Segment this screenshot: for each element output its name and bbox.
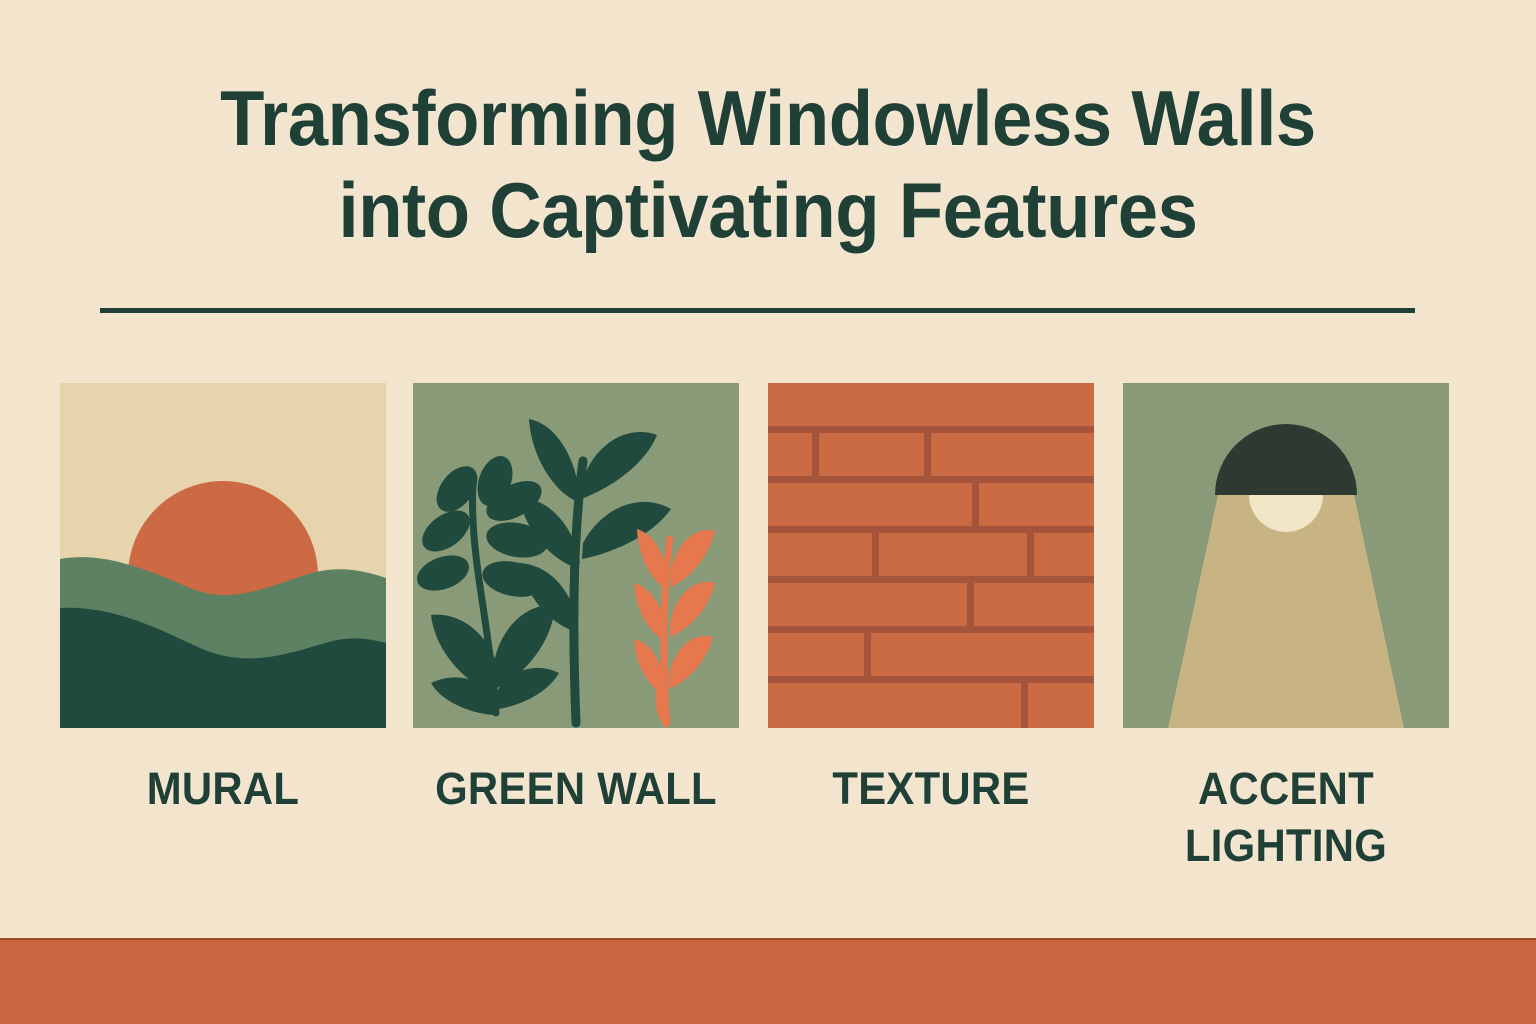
foliage-branches-icon [413,383,739,728]
sunset-hills-icon [60,383,386,728]
bottom-bar-hairline [0,938,1536,940]
panel-accent-lighting[interactable] [1123,383,1449,728]
title-line-1: Transforming Windowless Walls [54,72,1482,164]
poster-stage: Transforming Windowless Walls into Capti… [0,0,1536,1024]
panel-row [60,383,1456,728]
title-line-2: into Captivating Features [54,164,1482,256]
brick-wall-icon [768,383,1094,728]
panel-mural[interactable] [60,383,386,728]
page-title: Transforming Windowless Walls into Capti… [0,72,1536,256]
caption-accent-lighting: ACCENT LIGHTING [1134,760,1437,874]
caption-green-wall: GREEN WALL [424,760,727,817]
bottom-accent-bar [0,938,1536,1024]
title-divider-rule [100,308,1415,313]
panel-green-wall[interactable] [413,383,739,728]
caption-texture: TEXTURE [779,760,1082,817]
caption-mural: MURAL [71,760,374,817]
lamp-light-cone-icon [1123,383,1449,728]
panel-texture[interactable] [768,383,1094,728]
panel-captions: MURAL GREEN WALL TEXTURE ACCENT LIGHTING [60,760,1456,900]
